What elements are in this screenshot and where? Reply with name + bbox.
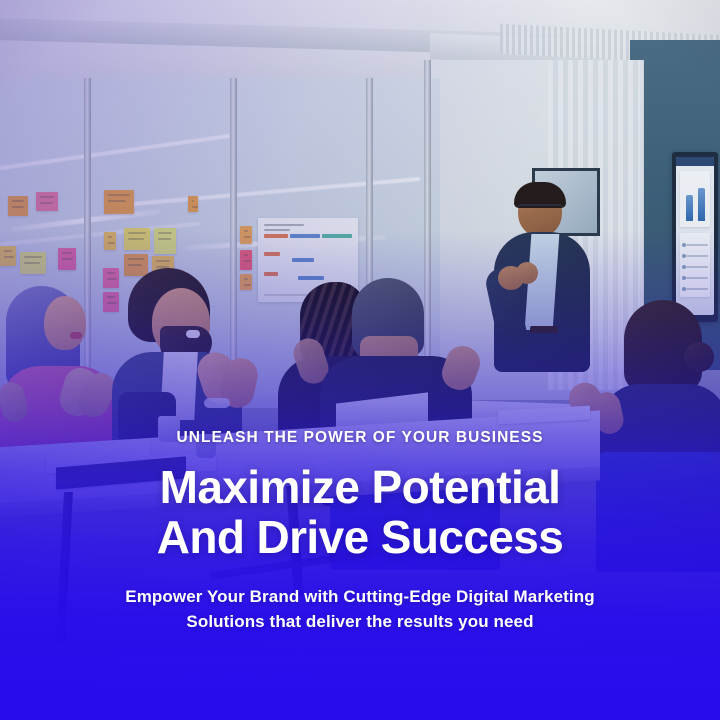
page-title: Maximize Potential And Drive Success: [0, 462, 720, 562]
subtitle-line-1: Empower Your Brand with Cutting-Edge Dig…: [125, 587, 594, 606]
headline-line-2: And Drive Success: [157, 511, 564, 563]
hero-content: UNLEASH THE POWER OF YOUR BUSINESS Maxim…: [0, 430, 720, 634]
subtitle-line-2: Solutions that deliver the results you n…: [186, 612, 533, 631]
eyebrow-text: UNLEASH THE POWER OF YOUR BUSINESS: [0, 430, 720, 446]
headline-line-1: Maximize Potential: [160, 461, 561, 513]
hero-banner: UNLEASH THE POWER OF YOUR BUSINESS Maxim…: [0, 0, 720, 720]
subtitle-text: Empower Your Brand with Cutting-Edge Dig…: [100, 584, 620, 634]
